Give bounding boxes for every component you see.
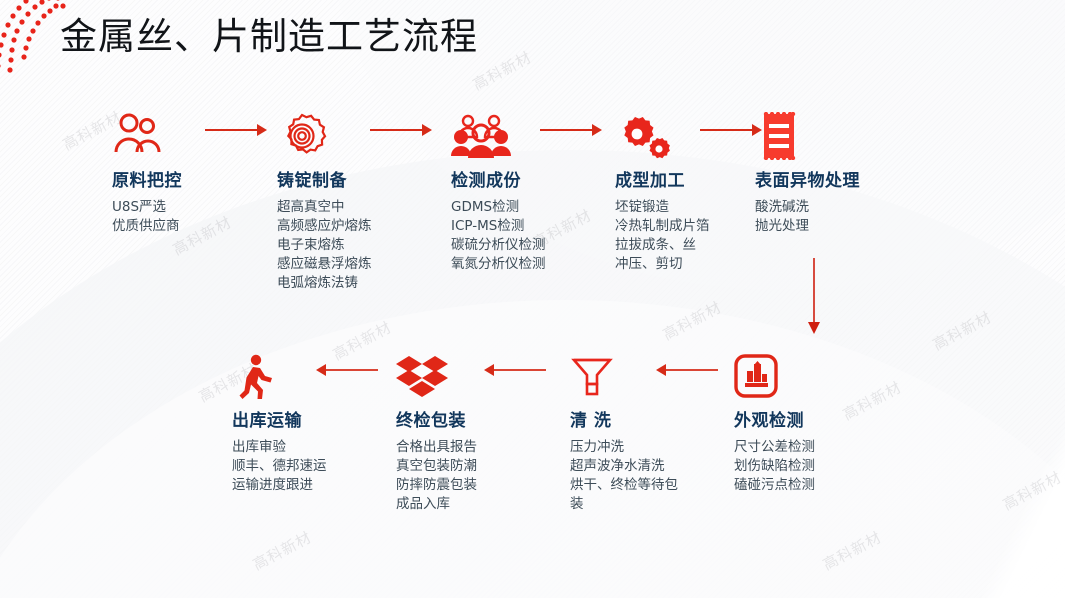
step-line: 冲压、剪切 [615,255,710,274]
step-line: 冷热轧制成片箔 [615,217,710,236]
flow-step-appearance-inspection[interactable]: 外观检测 尺寸公差检测 划伤缺陷检测 磕碰污点检测 [734,352,815,495]
step-lines: 出库审验 顺丰、德邦速运 运输进度跟进 [232,438,327,495]
step-line: 防摔防震包装 [396,476,477,495]
step-title: 出库运输 [232,406,327,431]
step-lines: U8S严选 优质供应商 [112,198,182,236]
step-line: 拉拔成条、丝 [615,236,710,255]
title-bar: 金属丝、片制造工艺流程 [0,0,1065,80]
walking-person-icon [232,352,278,400]
flow-step-outbound-transport[interactable]: 出库运输 出库审验 顺丰、德邦速运 运输进度跟进 [232,352,327,495]
step-line: 成品入库 [396,495,477,514]
inspection-box-icon [734,352,778,400]
open-box-icon [396,352,448,400]
document-stamp-icon [755,112,803,160]
arrow-right-2 [370,118,432,142]
step-line: 碳硫分析仪检测 [451,236,546,255]
step-title: 终检包装 [396,406,477,431]
step-lines: 压力冲洗 超声波净水清洗 烘干、终检等待包 装 [570,438,685,514]
double-gear-icon [615,112,671,160]
two-people-icon [112,112,164,160]
step-line: 感应磁悬浮熔炼 [277,255,372,274]
gear-spiral-icon [277,112,327,160]
stamp-body [764,112,795,160]
step-title: 检测成份 [451,166,546,191]
flow-step-cleaning[interactable]: 清 洗 压力冲洗 超声波净水清洗 烘干、终检等待包 装 [570,352,685,514]
step-line: 合格出具报告 [396,438,477,457]
arrow-left-2 [484,358,546,382]
step-title: 成型加工 [615,166,710,191]
step-line: 出库审验 [232,438,327,457]
flow-step-composition-testing[interactable]: 检测成份 GDMS检测 ICP-MS检测 碳硫分析仪检测 氧氮分析仪检测 [451,112,546,274]
background-decoration [0,0,1065,598]
step-line: 酸洗碱洗 [755,198,860,217]
flow-step-surface-treatment[interactable]: 表面异物处理 酸洗碱洗 抛光处理 [755,112,860,236]
step-line: 氧氮分析仪检测 [451,255,546,274]
arrow-right-3 [540,118,602,142]
arrow-down-connector [802,258,826,336]
step-line: U8S严选 [112,198,182,217]
step-lines: 超高真空中 高频感应炉熔炼 电子束熔炼 感应磁悬浮熔炼 电弧熔炼法铸 [277,198,372,293]
step-lines: 坯锭锻造 冷热轧制成片箔 拉拔成条、丝 冲压、剪切 [615,198,710,274]
step-line: 划伤缺陷检测 [734,457,815,476]
step-line: 高频感应炉熔炼 [277,217,372,236]
step-line: 尺寸公差检测 [734,438,815,457]
flow-step-ingot-preparation[interactable]: 铸锭制备 超高真空中 高频感应炉熔炼 电子束熔炼 感应磁悬浮熔炼 电弧熔炼法铸 [277,112,372,293]
step-lines: 合格出具报告 真空包装防潮 防摔防震包装 成品入库 [396,438,477,514]
step-line: 运输进度跟进 [232,476,327,495]
step-line: 抛光处理 [755,217,860,236]
step-line: 坯锭锻造 [615,198,710,217]
step-line: 烘干、终检等待包 装 [570,476,685,514]
step-line: 电子束熔炼 [277,236,372,255]
flow-step-forming-processing[interactable]: 成型加工 坯锭锻造 冷热轧制成片箔 拉拔成条、丝 冲压、剪切 [615,112,710,274]
step-title: 铸锭制备 [277,166,372,191]
flow-step-final-inspection-packaging[interactable]: 终检包装 合格出具报告 真空包装防潮 防摔防震包装 成品入库 [396,352,477,514]
flow-step-raw-material-control[interactable]: 原料把控 U8S严选 优质供应商 [112,112,182,236]
step-line: 顺丰、德邦速运 [232,457,327,476]
page-title: 金属丝、片制造工艺流程 [60,6,478,60]
step-line: GDMS检测 [451,198,546,217]
step-title: 清 洗 [570,406,685,431]
step-line: 超高真空中 [277,198,372,217]
step-title: 原料把控 [112,166,182,191]
funnel-icon [570,352,614,400]
step-lines: 尺寸公差检测 划伤缺陷检测 磕碰污点检测 [734,438,815,495]
arrow-right-1 [205,118,267,142]
step-title: 表面异物处理 [755,166,860,191]
step-line: 电弧熔炼法铸 [277,274,372,293]
step-line: 超声波净水清洗 [570,457,685,476]
step-line: 压力冲洗 [570,438,685,457]
step-line: 真空包装防潮 [396,457,477,476]
step-lines: GDMS检测 ICP-MS检测 碳硫分析仪检测 氧氮分析仪检测 [451,198,546,274]
people-group-icon [451,112,511,160]
step-line: 优质供应商 [112,217,182,236]
step-line: ICP-MS检测 [451,217,546,236]
step-line: 磕碰污点检测 [734,476,815,495]
step-lines: 酸洗碱洗 抛光处理 [755,198,860,236]
step-title: 外观检测 [734,406,815,431]
